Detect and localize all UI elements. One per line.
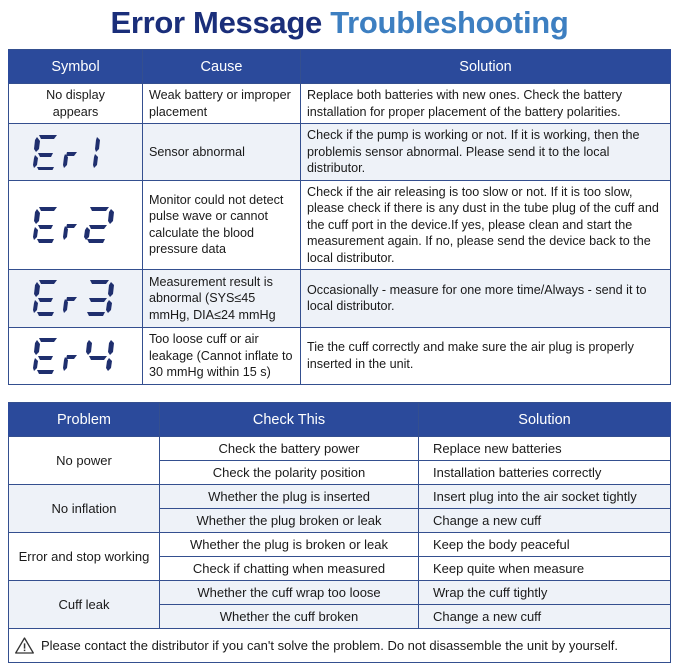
problem-check-table: Problem Check This Solution No power Che…	[8, 402, 671, 663]
solution-cell: Insert plug into the air socket tightly	[419, 485, 671, 509]
error-solution-cell: Tie the cuff correctly and make sure the…	[301, 327, 671, 385]
problem-cell: Error and stop working	[9, 533, 160, 581]
problem-table-header-check: Check This	[160, 403, 419, 437]
check-cell: Whether the cuff broken	[160, 605, 419, 629]
error-cause-cell: Monitor could not detect pulse wave or c…	[143, 180, 301, 270]
solution-cell: Keep the body peaceful	[419, 533, 671, 557]
problem-cell: No inflation	[9, 485, 160, 533]
table-row: No display appears Weak battery or impro…	[9, 84, 671, 124]
troubleshooting-page: Error Message Troubleshooting Symbol Cau…	[0, 0, 679, 670]
error-cause-cell: Weak battery or improper placement	[143, 84, 301, 124]
problem-cell: No power	[9, 437, 160, 485]
error-symbol-line1: No display	[46, 88, 105, 102]
solution-cell: Change a new cuff	[419, 509, 671, 533]
error-table-header-symbol: Symbol	[9, 50, 143, 84]
page-title-part2: Troubleshooting	[330, 5, 568, 40]
check-cell: Whether the cuff wrap too loose	[160, 581, 419, 605]
footer-note-text: Please contact the distributor if you ca…	[41, 637, 618, 654]
error-solution-cell: Replace both batteries with new ones. Ch…	[301, 84, 671, 124]
error-symbol-line2: appears	[53, 105, 99, 119]
footer-note: Please contact the distributor if you ca…	[9, 629, 671, 663]
check-cell: Whether the plug broken or leak	[160, 509, 419, 533]
table-row: Measurement result is abnormal (SYS≤45 m…	[9, 270, 671, 328]
table-row: Error and stop working Whether the plug …	[9, 533, 671, 557]
table-row: Too loose cuff or air leakage (Cannot in…	[9, 327, 671, 385]
error-table-header-row: Symbol Cause Solution	[9, 50, 671, 84]
solution-cell: Installation batteries correctly	[419, 461, 671, 485]
error-symbol-cell	[9, 180, 143, 270]
error-symbol-cell	[9, 327, 143, 385]
error-cause-cell: Sensor abnormal	[143, 124, 301, 181]
problem-table-header-row: Problem Check This Solution	[9, 403, 671, 437]
lcd-display-er2	[33, 200, 119, 246]
table-row: Cuff leak Whether the cuff wrap too loos…	[9, 581, 671, 605]
error-table-header-cause: Cause	[143, 50, 301, 84]
table-row: Sensor abnormal Check if the pump is wor…	[9, 124, 671, 181]
problem-table-header-problem: Problem	[9, 403, 160, 437]
lcd-display-er4	[33, 331, 119, 377]
solution-cell: Change a new cuff	[419, 605, 671, 629]
table-row: No power Check the battery power Replace…	[9, 437, 671, 461]
problem-cell: Cuff leak	[9, 581, 160, 629]
lcd-display-er3	[33, 273, 119, 319]
error-cause-cell: Too loose cuff or air leakage (Cannot in…	[143, 327, 301, 385]
error-solution-cell: Occasionally - measure for one more time…	[301, 270, 671, 328]
table-row: Please contact the distributor if you ca…	[9, 629, 671, 663]
check-cell: Whether the plug is inserted	[160, 485, 419, 509]
problem-table-header-solution: Solution	[419, 403, 671, 437]
page-title-part1: Error Message	[110, 5, 330, 40]
page-title: Error Message Troubleshooting	[8, 0, 671, 49]
check-cell: Check the battery power	[160, 437, 419, 461]
error-solution-cell: Check if the pump is working or not. If …	[301, 124, 671, 181]
table-row: No inflation Whether the plug is inserte…	[9, 485, 671, 509]
error-solution-cell: Check if the air releasing is too slow o…	[301, 180, 671, 270]
solution-cell: Keep quite when measure	[419, 557, 671, 581]
warning-triangle-icon	[15, 637, 34, 654]
error-table-header-solution: Solution	[301, 50, 671, 84]
solution-cell: Replace new batteries	[419, 437, 671, 461]
error-symbol-cell	[9, 124, 143, 181]
error-symbol-cell	[9, 270, 143, 328]
check-cell: Check the polarity position	[160, 461, 419, 485]
error-cause-cell: Measurement result is abnormal (SYS≤45 m…	[143, 270, 301, 328]
error-symbol-cell: No display appears	[9, 84, 143, 124]
error-message-table: Symbol Cause Solution No display appears…	[8, 49, 671, 385]
check-cell: Check if chatting when measured	[160, 557, 419, 581]
solution-cell: Wrap the cuff tightly	[419, 581, 671, 605]
check-cell: Whether the plug is broken or leak	[160, 533, 419, 557]
lcd-display-er1	[33, 128, 119, 172]
table-row: Monitor could not detect pulse wave or c…	[9, 180, 671, 270]
